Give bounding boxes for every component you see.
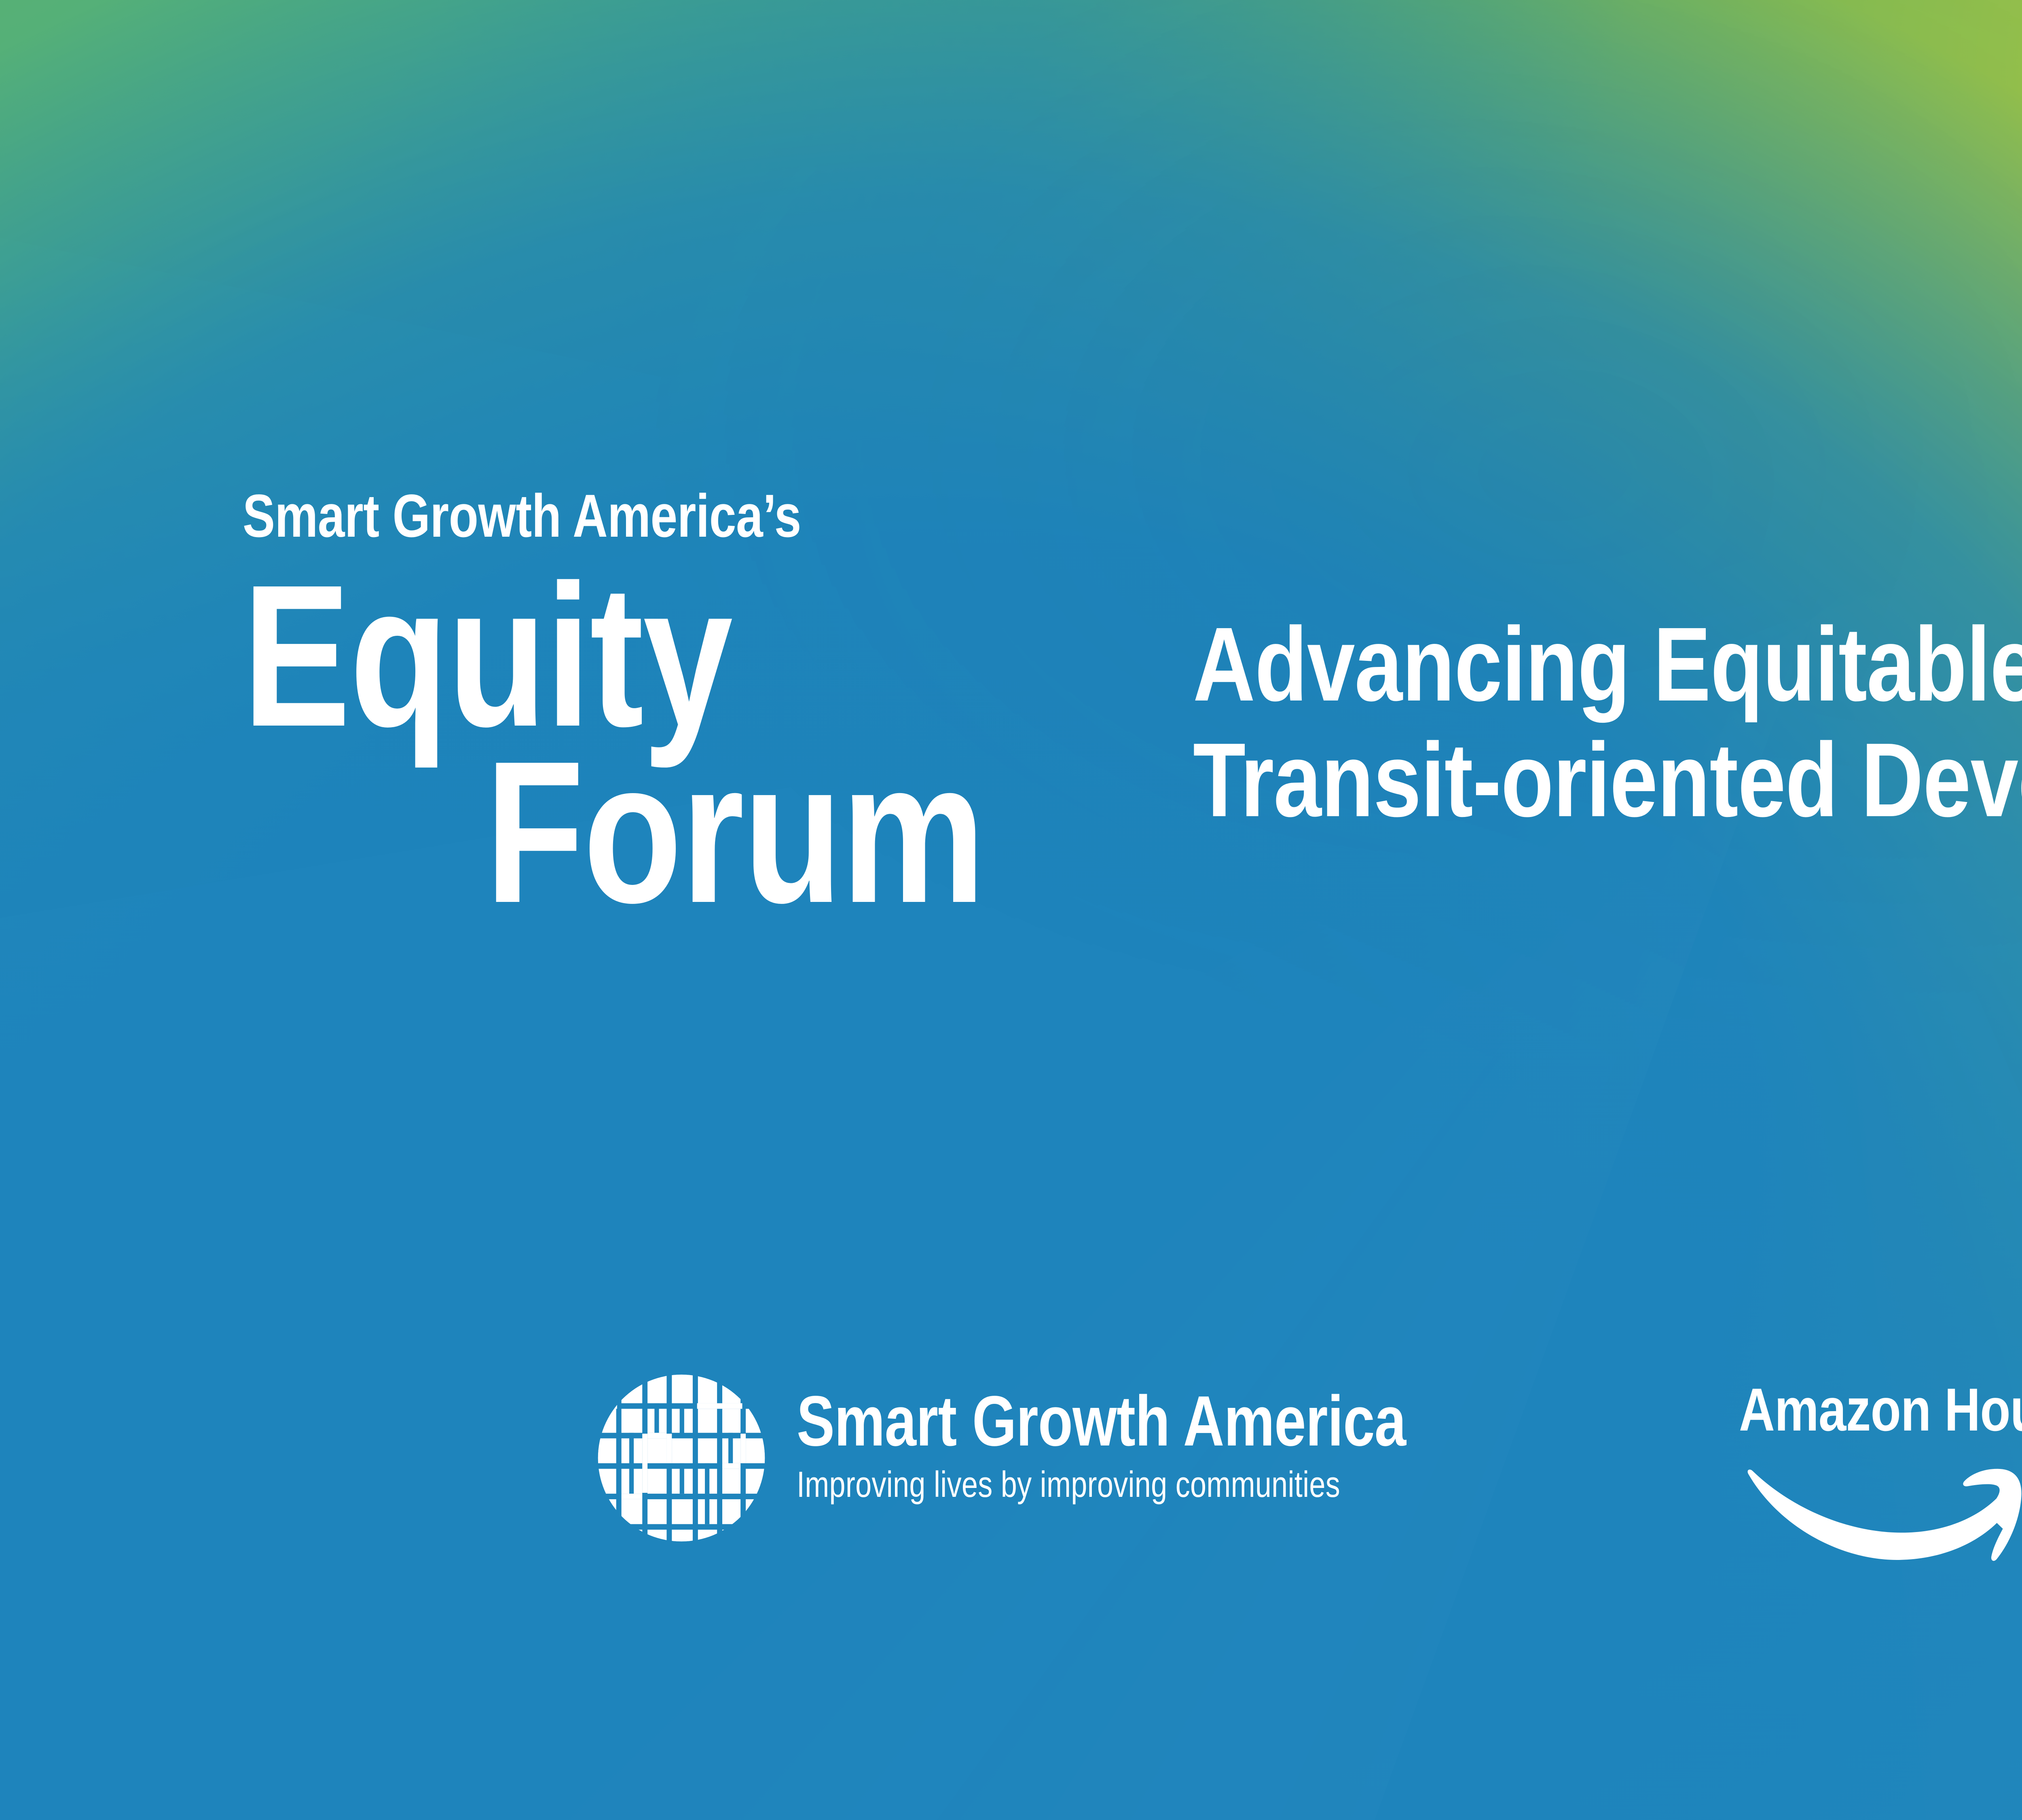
sponsor-logo-amazon-housing-equity-fund: Amazon Housing Equity Fund	[1739, 1379, 2022, 1553]
sga-tagline: Improving lives by improving communities	[797, 1467, 1537, 1503]
event-title-slide: Smart Growth America’s Equity Forum Adva…	[0, 0, 2022, 1820]
event-lockup: Smart Growth America’s Equity Forum	[243, 485, 1294, 927]
sponsor-footer: Smart Growth America Improving lives by …	[0, 1351, 2022, 1594]
amazon-smile-arrow-icon	[1745, 1462, 2022, 1567]
session-headline-line-2-text: Transit-oriented Development	[1193, 722, 2022, 838]
session-headline-line-1: Advancing Equitable	[1193, 607, 2022, 722]
session-headline-line-1-text: Advancing Equitable	[1193, 607, 2022, 722]
amazon-wordmark: Amazon Housing Equity Fund	[1739, 1379, 2022, 1440]
amazon-wordmark-text: Amazon Housing Equity Fund	[1739, 1379, 2022, 1440]
sga-wordmark: Smart Growth America	[797, 1386, 1537, 1457]
sga-text-block: Smart Growth America Improving lives by …	[797, 1386, 1537, 1503]
session-headline-line-2: Transit-oriented Development	[1193, 722, 2022, 838]
sga-wordmark-text: Smart Growth America	[797, 1386, 1406, 1457]
event-eyebrow-text: Smart Growth America’s	[243, 485, 801, 546]
globe-grid-icon	[594, 1371, 768, 1545]
sponsor-logo-smart-growth-america: Smart Growth America Improving lives by …	[594, 1371, 1533, 1541]
event-title-line-2-text: Forum	[485, 737, 984, 927]
session-headline: Advancing Equitable Transit-oriented Dev…	[1193, 607, 2022, 838]
event-eyebrow: Smart Growth America’s	[243, 485, 1294, 546]
sga-tagline-text: Improving lives by improving communities	[797, 1467, 1340, 1503]
